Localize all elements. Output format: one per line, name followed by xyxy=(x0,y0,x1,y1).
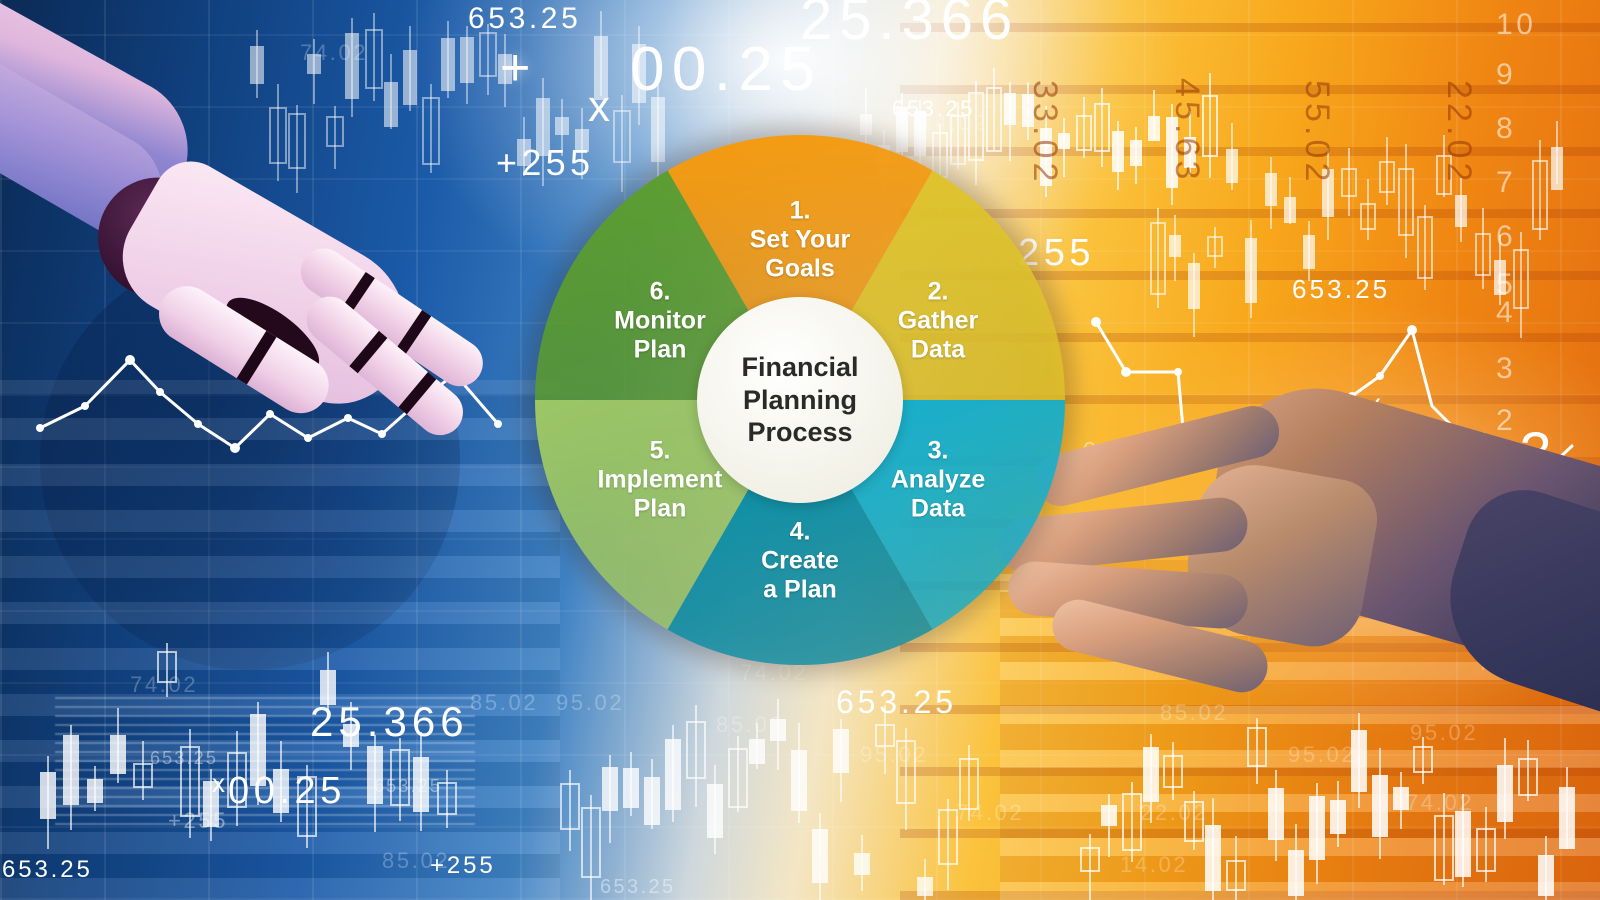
wheel-center-hub: Financial Planning Process xyxy=(697,297,903,503)
axis-tick-9: 9 xyxy=(1496,58,1516,92)
watermark-number-12: 22.02 xyxy=(1140,800,1208,826)
background-rotated-number-r3: 55.02 xyxy=(1297,80,1336,185)
background-number-n19: 653.25 xyxy=(374,776,442,797)
wheel-center-title: Financial Planning Process xyxy=(741,351,858,448)
background-rotated-number-r4: 22.02 xyxy=(1439,80,1478,185)
watermark-number-1: 85.02 xyxy=(470,690,538,716)
axis-tick-6: 6 xyxy=(1496,220,1516,254)
background-number-n23: 653.25 xyxy=(600,876,676,899)
center-line-1: Financial xyxy=(741,351,858,383)
axis-tick-8: 8 xyxy=(1496,112,1516,146)
background-number-n15: 25.366 xyxy=(310,698,469,746)
watermark-number-5: 95.02 xyxy=(860,742,928,768)
background-number-n18: 653.25 xyxy=(150,748,218,769)
infographic-canvas: 653.2525.366+00.25x+255653.25255653.2525… xyxy=(0,0,1600,900)
background-number-n02: 25.366 xyxy=(800,0,1019,53)
watermark-number-13: 14.02 xyxy=(1120,852,1188,878)
watermark-number-10: 74.02 xyxy=(1406,790,1474,816)
watermark-number-2: 95.02 xyxy=(556,690,624,716)
watermark-number-11: 85.02 xyxy=(382,848,450,874)
watermark-number-6: 74.02 xyxy=(956,800,1024,826)
watermark-number-0: 74.02 xyxy=(130,672,198,698)
center-line-3: Process xyxy=(741,416,858,448)
center-line-2: Planning xyxy=(741,384,858,416)
watermark-number-4: 85.02 xyxy=(716,712,784,738)
financial-planning-process-wheel: 1.Set YourGoals2.GatherData3.AnalyzeData… xyxy=(533,133,1067,667)
background-number-n04: 00.25 xyxy=(630,34,822,105)
background-number-n21: 653.25 xyxy=(2,856,93,884)
background-rotated-number-r2: 45.63 xyxy=(1167,78,1206,183)
background-number-n14: 653.25 xyxy=(836,684,957,721)
background-number-n16: 00.25 xyxy=(228,770,346,813)
axis-tick-10: 10 xyxy=(1496,8,1537,42)
background-number-n20: +255 xyxy=(168,808,228,834)
watermark-number-16: 74.02 xyxy=(300,40,368,66)
background-number-n01: 653.25 xyxy=(468,2,581,36)
axis-tick-7: 7 xyxy=(1496,166,1516,200)
background-number-n05: x xyxy=(588,82,615,132)
background-number-n03: + xyxy=(500,38,537,98)
background-number-n17: x xyxy=(212,768,228,799)
